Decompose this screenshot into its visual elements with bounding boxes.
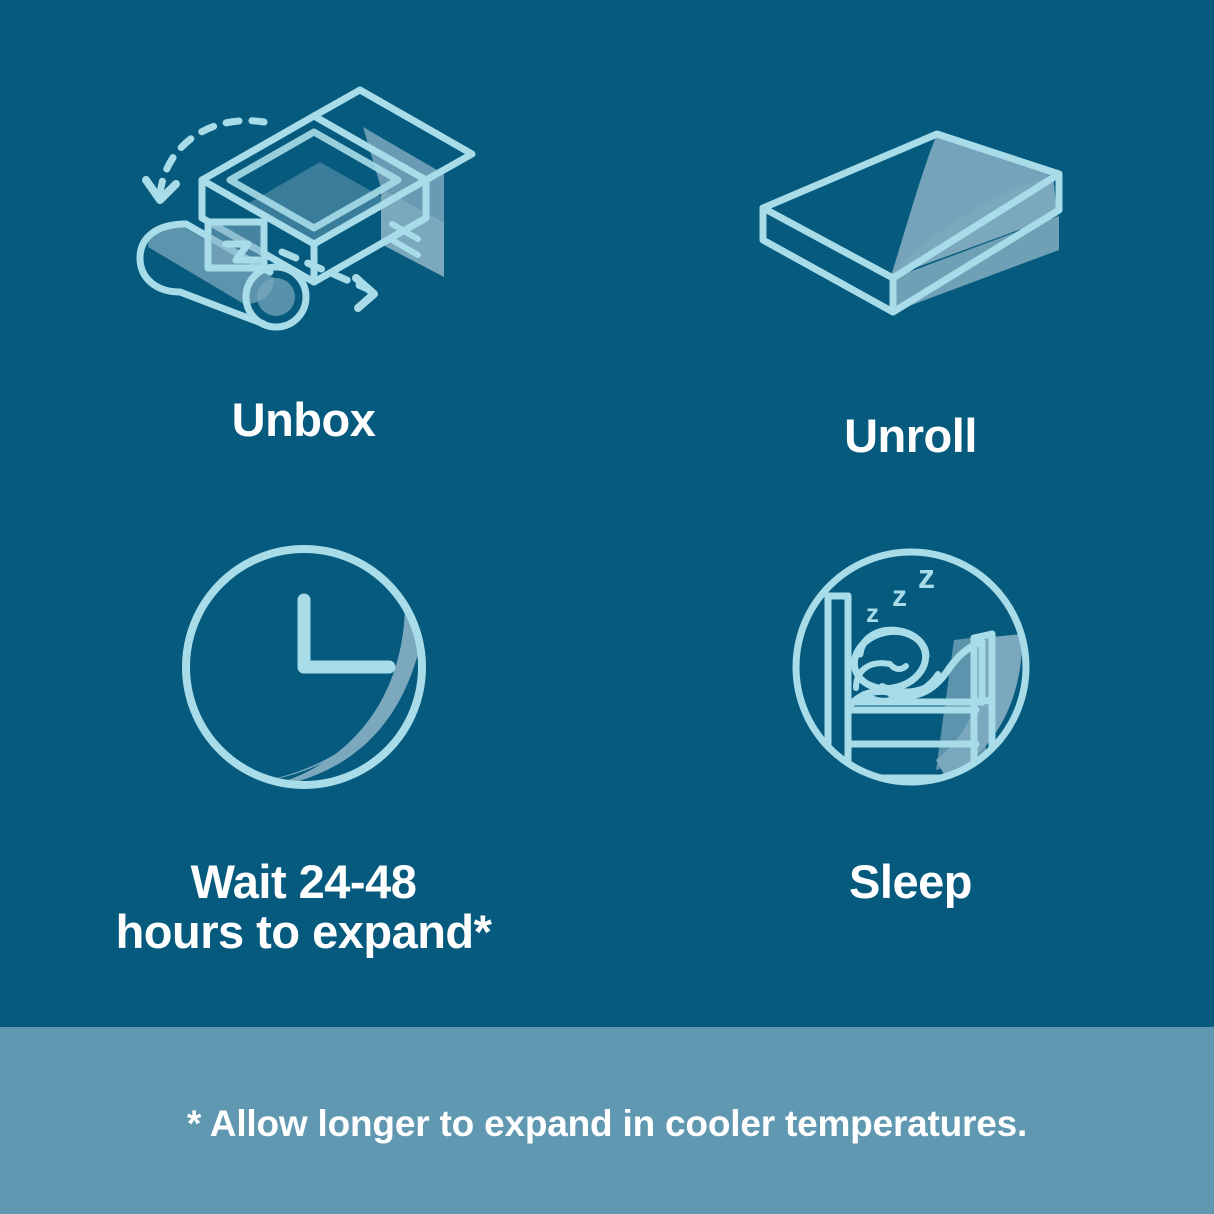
- step-label-unbox: Unbox: [232, 395, 376, 446]
- step-unroll: Unroll: [607, 0, 1214, 514]
- footer-note-text: * Allow longer to expand in cooler tempe…: [187, 1103, 1027, 1145]
- flat-mattress-slab-icon: [741, 98, 1081, 333]
- step-label-sleep: Sleep: [849, 857, 972, 908]
- step-label-wait: Wait 24-48 hours to expand*: [116, 857, 492, 959]
- step-sleep: z z z Sleep: [607, 514, 1214, 1028]
- open-box-with-rolled-mattress-icon: [124, 72, 484, 337]
- infographic-page: Unbox: [0, 0, 1214, 1214]
- clock-icon: [179, 542, 429, 797]
- step-wait: Wait 24-48 hours to expand*: [0, 514, 607, 1028]
- step-label-unroll: Unroll: [844, 411, 977, 462]
- svg-text:z: z: [892, 580, 907, 613]
- steps-grid: Unbox: [0, 0, 1214, 1027]
- footer-note-bar: * Allow longer to expand in cooler tempe…: [0, 1027, 1214, 1214]
- svg-text:z: z: [866, 598, 879, 628]
- svg-text:z: z: [918, 558, 935, 596]
- person-sleeping-in-bed-icon: z z z: [786, 542, 1036, 797]
- step-unbox: Unbox: [0, 0, 607, 514]
